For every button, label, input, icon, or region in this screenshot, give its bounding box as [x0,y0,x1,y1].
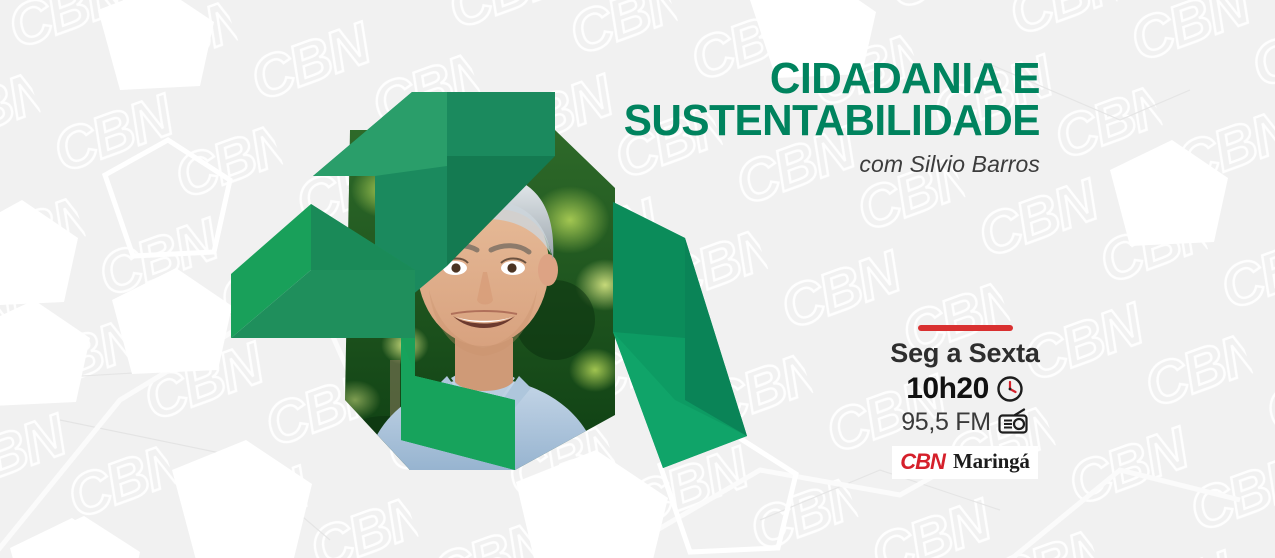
schedule-time: 10h20 [906,372,989,406]
recycle-arrow-right [613,202,747,468]
radio-icon [997,408,1029,436]
station-logo-city: Maringá [953,449,1030,474]
schedule-frequency-row: 95,5 FM [875,408,1055,437]
program-title-line-2: SUSTENTABILIDADE [426,100,1040,142]
station-logo: CBN Maringá [892,446,1037,479]
schedule-frequency: 95,5 FM [901,408,991,437]
banner-root: CBN CBN [0,0,1275,558]
clock-icon [996,375,1024,403]
program-title-block: CIDADANIA E SUSTENTABILIDADE com Silvio … [400,58,1040,178]
station-logo-mark: CBN [900,449,945,475]
schedule-time-row: 10h20 [875,372,1055,406]
schedule-block: Seg a Sexta 10h20 95,5 FM CBN [875,325,1055,479]
program-host-credit: com Silvio Barros [400,151,1040,178]
accent-divider [918,325,1013,331]
schedule-days: Seg a Sexta [875,339,1055,369]
program-title-line-1: CIDADANIA E [426,58,1040,100]
